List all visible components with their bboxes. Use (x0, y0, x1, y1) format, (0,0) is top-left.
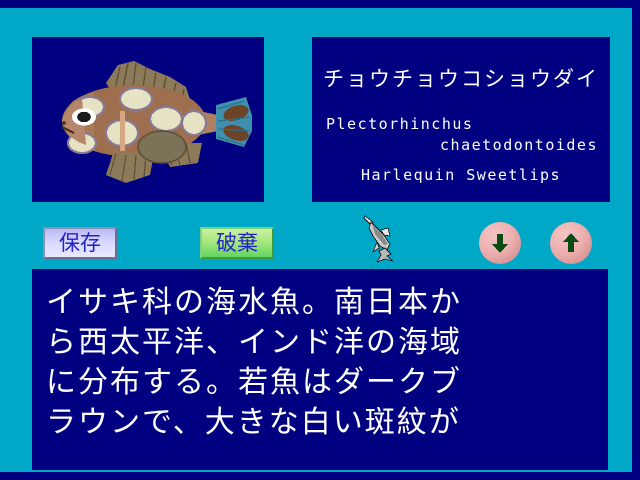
common-name: Harlequin Sweetlips (312, 166, 610, 184)
specimen-image (46, 55, 254, 187)
description-text: イサキ科の海水魚。南日本か ら西太平洋、インド洋の海域 に分布する。若魚はダーク… (46, 283, 598, 443)
desktop-background: チョウチョウコショウダイ Plectorhinchus chaetodontoi… (0, 8, 632, 472)
swordfish-cursor (363, 214, 403, 264)
arrow-up-icon (550, 222, 592, 264)
save-button[interactable]: 保存 (43, 227, 117, 259)
scroll-up-button[interactable] (550, 222, 592, 264)
scroll-down-button[interactable] (479, 222, 521, 264)
arrow-down-icon (479, 222, 521, 264)
application-screen: チョウチョウコショウダイ Plectorhinchus chaetodontoi… (0, 0, 640, 480)
scientific-name-species: chaetodontoides (440, 136, 598, 154)
scientific-name-genus: Plectorhinchus (326, 115, 473, 133)
kana-name: チョウチョウコショウダイ (312, 63, 610, 93)
discard-button[interactable]: 破棄 (200, 227, 274, 259)
specimen-names-panel: チョウチョウコショウダイ Plectorhinchus chaetodontoi… (312, 37, 610, 202)
specimen-image-panel (32, 37, 264, 202)
description-panel: イサキ科の海水魚。南日本か ら西太平洋、インド洋の海域 に分布する。若魚はダーク… (32, 269, 608, 470)
